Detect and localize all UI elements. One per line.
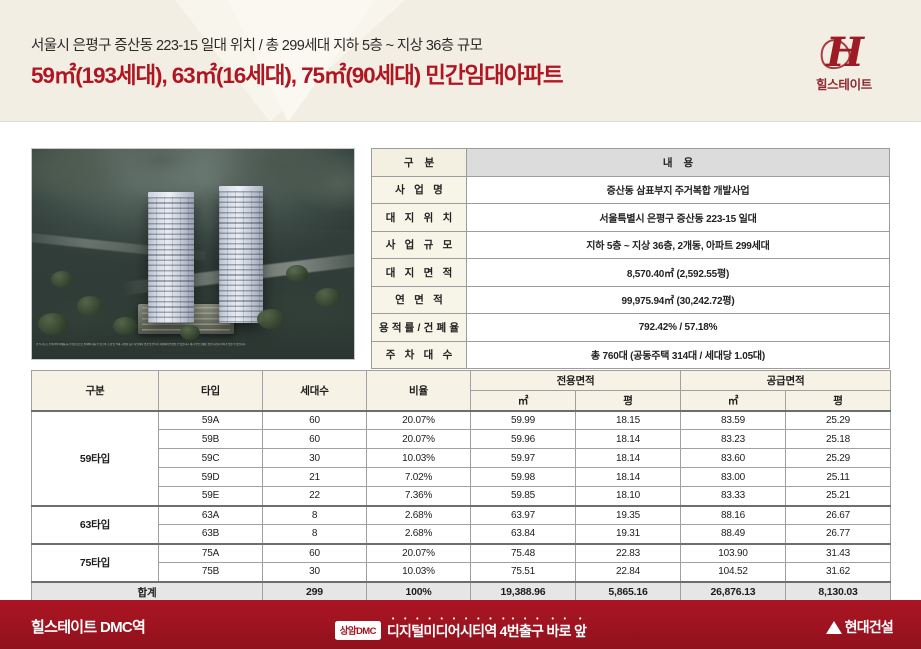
table-row: 75타입 75A 60 20.07% 75.48 22.83 103.90 31… bbox=[32, 544, 891, 563]
spec-value: 증산동 삼표부지 주거복합 개발사업 bbox=[467, 176, 890, 204]
unit-cell-type: 59E bbox=[159, 487, 263, 506]
unit-cell-households: 60 bbox=[263, 411, 367, 430]
unit-cell-sup-sqm: 104.52 bbox=[681, 563, 786, 582]
unit-cell-sup-pyeong: 26.67 bbox=[786, 506, 891, 525]
spec-label: 대 지 면 적 bbox=[372, 259, 467, 287]
project-spec-table: 구 분 내 용 사 업 명 증산동 삼표부지 주거복합 개발사업 대 지 위 치… bbox=[371, 148, 890, 369]
rendering-tree bbox=[315, 288, 341, 307]
spec-row-parking: 주 차 대 수 총 760대 (공동주택 314대 / 세대당 1.05대) bbox=[372, 341, 890, 369]
unit-header-supply-pyeong: 평 bbox=[786, 391, 891, 411]
unit-cell-sup-sqm: 83.23 bbox=[681, 430, 786, 449]
unit-group-label-59: 59타입 bbox=[32, 411, 159, 506]
table-row: 59D 21 7.02% 59.98 18.14 83.00 25.11 bbox=[32, 468, 891, 487]
unit-cell-ratio: 10.03% bbox=[367, 449, 471, 468]
spec-value: 792.42% / 57.18% bbox=[467, 314, 890, 342]
spec-row-business-name: 사 업 명 증산동 삼표부지 주거복합 개발사업 bbox=[372, 176, 890, 204]
hyundai-ec-logo: 현대건설 bbox=[826, 617, 893, 637]
unit-cell-type: 59A bbox=[159, 411, 263, 430]
footer-dmc-badge: 상암DMC bbox=[335, 621, 381, 640]
unit-cell-excl-sqm: 75.48 bbox=[471, 544, 576, 563]
spec-label: 용적률/건폐율 bbox=[372, 314, 467, 342]
spec-label: 주 차 대 수 bbox=[372, 341, 467, 369]
spec-row-floor-area-ratio: 용적률/건폐율 792.42% / 57.18% bbox=[372, 314, 890, 342]
unit-cell-sup-sqm: 83.00 bbox=[681, 468, 786, 487]
unit-cell-excl-sqm: 59.98 bbox=[471, 468, 576, 487]
page-title: 59㎡(193세대), 63㎡(16세대), 75㎡(90세대) 민간임대아파트 bbox=[31, 62, 563, 89]
unit-cell-ratio: 2.68% bbox=[367, 506, 471, 525]
spec-row-business-scale: 사 업 규 모 지하 5층 ~ 지상 36층, 2개동, 아파트 299세대 bbox=[372, 231, 890, 259]
spec-row-site-area: 대 지 면 적 8,570.40㎡ (2,592.55평) bbox=[372, 259, 890, 287]
unit-cell-ratio: 7.36% bbox=[367, 487, 471, 506]
unit-cell-sup-sqm: 83.59 bbox=[681, 411, 786, 430]
spec-label: 연 면 적 bbox=[372, 286, 467, 314]
table-row: 59B 60 20.07% 59.96 18.14 83.23 25.18 bbox=[32, 430, 891, 449]
unit-cell-excl-sqm: 63.84 bbox=[471, 525, 576, 544]
unit-cell-households: 8 bbox=[263, 525, 367, 544]
rendering-tree bbox=[51, 271, 73, 288]
rendering-disclaimer: 본 투시도는 소비자의 이해를 돕기 위한 것으로 실제와 다를 수 있으며, … bbox=[36, 343, 350, 356]
unit-cell-ratio: 20.07% bbox=[367, 411, 471, 430]
unit-cell-type: 59B bbox=[159, 430, 263, 449]
page-content: 본 투시도는 소비자의 이해를 돕기 위한 것으로 실제와 다를 수 있으며, … bbox=[0, 122, 921, 600]
unit-cell-sup-sqm: 103.90 bbox=[681, 544, 786, 563]
rendering-tree bbox=[113, 317, 137, 335]
unit-cell-households: 30 bbox=[263, 563, 367, 582]
spec-label: 사 업 규 모 bbox=[372, 231, 467, 259]
rendering-tree bbox=[257, 309, 285, 329]
unit-header-supply-area: 공급면적 bbox=[681, 371, 891, 391]
rendering-tower-b bbox=[219, 191, 263, 323]
spec-label: 대 지 위 치 bbox=[372, 204, 467, 232]
rendering-tree bbox=[38, 313, 68, 335]
unit-cell-sup-pyeong: 25.29 bbox=[786, 449, 891, 468]
rendering-tree bbox=[77, 296, 103, 316]
unit-header-supply-sqm: ㎡ bbox=[681, 391, 786, 411]
spec-row-site-location: 대 지 위 치 서울특별시 은평구 증산동 223-15 일대 bbox=[372, 204, 890, 232]
unit-cell-sup-pyeong: 25.29 bbox=[786, 411, 891, 430]
project-rendering-image: 본 투시도는 소비자의 이해를 돕기 위한 것으로 실제와 다를 수 있으며, … bbox=[31, 148, 355, 360]
footer-location-block: 상암DMC디지털미디어시티역 4번출구 바로 앞 bbox=[0, 616, 921, 641]
unit-cell-ratio: 20.07% bbox=[367, 544, 471, 563]
header-subtitle: 서울시 은평구 증산동 223-15 일대 위치 / 총 299세대 지하 5층… bbox=[31, 38, 563, 55]
unit-header-gubun: 구분 bbox=[32, 371, 159, 411]
table-row: 63타입 63A 8 2.68% 63.97 19.35 88.16 26.67 bbox=[32, 506, 891, 525]
rendering-tree bbox=[286, 265, 308, 282]
unit-cell-excl-pyeong: 18.15 bbox=[576, 411, 681, 430]
table-row: 59타입 59A 60 20.07% 59.99 18.15 83.59 25.… bbox=[32, 411, 891, 430]
unit-cell-sup-pyeong: 25.21 bbox=[786, 487, 891, 506]
spec-value: 8,570.40㎡ (2,592.55평) bbox=[467, 259, 890, 287]
unit-cell-excl-pyeong: 19.35 bbox=[576, 506, 681, 525]
unit-cell-type: 75B bbox=[159, 563, 263, 582]
table-row: 75B 30 10.03% 75.51 22.84 104.52 31.62 bbox=[32, 563, 891, 582]
unit-cell-sup-sqm: 88.16 bbox=[681, 506, 786, 525]
spec-label: 사 업 명 bbox=[372, 176, 467, 204]
unit-type-table: 구분 타입 세대수 비율 전용면적 공급면적 ㎡ 평 ㎡ 평 59타입 bbox=[31, 370, 891, 603]
unit-cell-ratio: 7.02% bbox=[367, 468, 471, 487]
hillstate-logo: H 힐스테이트 bbox=[789, 33, 899, 93]
unit-cell-households: 21 bbox=[263, 468, 367, 487]
unit-cell-excl-pyeong: 22.83 bbox=[576, 544, 681, 563]
unit-cell-excl-sqm: 75.51 bbox=[471, 563, 576, 582]
unit-cell-ratio: 20.07% bbox=[367, 430, 471, 449]
unit-cell-sup-pyeong: 26.77 bbox=[786, 525, 891, 544]
unit-cell-type: 75A bbox=[159, 544, 263, 563]
unit-cell-excl-sqm: 59.85 bbox=[471, 487, 576, 506]
unit-cell-excl-pyeong: 18.14 bbox=[576, 468, 681, 487]
unit-cell-households: 60 bbox=[263, 430, 367, 449]
unit-header-households: 세대수 bbox=[263, 371, 367, 411]
page-header: 서울시 은평구 증산동 223-15 일대 위치 / 총 299세대 지하 5층… bbox=[0, 0, 921, 122]
unit-header-ratio: 비율 bbox=[367, 371, 471, 411]
unit-cell-sup-sqm: 83.33 bbox=[681, 487, 786, 506]
footer-location-text: 디지털미디어시티역 4번출구 바로 앞 bbox=[387, 616, 586, 641]
rendering-tower-a bbox=[148, 197, 194, 323]
spec-value: 지하 5층 ~ 지상 36층, 2개동, 아파트 299세대 bbox=[467, 231, 890, 259]
spec-header-gubun: 구 분 bbox=[372, 149, 467, 177]
unit-cell-sup-pyeong: 25.18 bbox=[786, 430, 891, 449]
spec-value: 서울특별시 은평구 증산동 223-15 일대 bbox=[467, 204, 890, 232]
unit-cell-excl-pyeong: 22.84 bbox=[576, 563, 681, 582]
unit-cell-excl-sqm: 59.96 bbox=[471, 430, 576, 449]
unit-cell-households: 60 bbox=[263, 544, 367, 563]
unit-cell-type: 63A bbox=[159, 506, 263, 525]
unit-cell-sup-pyeong: 25.11 bbox=[786, 468, 891, 487]
unit-cell-households: 8 bbox=[263, 506, 367, 525]
unit-cell-excl-sqm: 59.99 bbox=[471, 411, 576, 430]
unit-cell-sup-sqm: 83.60 bbox=[681, 449, 786, 468]
unit-cell-type: 59D bbox=[159, 468, 263, 487]
unit-cell-sup-pyeong: 31.43 bbox=[786, 544, 891, 563]
hillstate-h-mark-icon: H bbox=[826, 33, 862, 73]
unit-cell-type: 59C bbox=[159, 449, 263, 468]
unit-group-label-75: 75타입 bbox=[32, 544, 159, 582]
unit-cell-ratio: 2.68% bbox=[367, 525, 471, 544]
unit-cell-sup-sqm: 88.49 bbox=[681, 525, 786, 544]
table-row: 63B 8 2.68% 63.84 19.31 88.49 26.77 bbox=[32, 525, 891, 544]
spec-row-total-floor-area: 연 면 적 99,975.94㎡ (30,242.72평) bbox=[372, 286, 890, 314]
unit-cell-excl-pyeong: 19.31 bbox=[576, 525, 681, 544]
unit-header-exclusive-sqm: ㎡ bbox=[471, 391, 576, 411]
unit-group-label-63: 63타입 bbox=[32, 506, 159, 544]
unit-cell-excl-pyeong: 18.10 bbox=[576, 487, 681, 506]
hyundai-ec-name: 현대건설 bbox=[845, 617, 893, 637]
table-row: 59E 22 7.36% 59.85 18.10 83.33 25.21 bbox=[32, 487, 891, 506]
unit-cell-excl-pyeong: 18.14 bbox=[576, 449, 681, 468]
unit-header-type: 타입 bbox=[159, 371, 263, 411]
unit-cell-excl-sqm: 63.97 bbox=[471, 506, 576, 525]
spec-value: 99,975.94㎡ (30,242.72평) bbox=[467, 286, 890, 314]
unit-cell-ratio: 10.03% bbox=[367, 563, 471, 582]
unit-cell-sup-pyeong: 31.62 bbox=[786, 563, 891, 582]
unit-table-header-row-1: 구분 타입 세대수 비율 전용면적 공급면적 bbox=[32, 371, 891, 391]
unit-header-exclusive-pyeong: 평 bbox=[576, 391, 681, 411]
brochure-page: 서울시 은평구 증산동 223-15 일대 위치 / 총 299세대 지하 5층… bbox=[0, 0, 921, 649]
unit-cell-type: 63B bbox=[159, 525, 263, 544]
hillstate-brand-name: 힐스테이트 bbox=[789, 74, 899, 93]
unit-cell-households: 30 bbox=[263, 449, 367, 468]
table-row: 59C 30 10.03% 59.97 18.14 83.60 25.29 bbox=[32, 449, 891, 468]
page-footer: 힐스테이트 DMC역 상암DMC디지털미디어시티역 4번출구 바로 앞 현대건설 bbox=[0, 600, 921, 649]
unit-header-exclusive-area: 전용면적 bbox=[471, 371, 681, 391]
unit-cell-households: 22 bbox=[263, 487, 367, 506]
hyundai-triangle-icon bbox=[826, 621, 842, 634]
header-text-block: 서울시 은평구 증산동 223-15 일대 위치 / 총 299세대 지하 5층… bbox=[31, 38, 563, 89]
unit-cell-excl-pyeong: 18.14 bbox=[576, 430, 681, 449]
spec-header-naeyong: 내 용 bbox=[467, 149, 890, 177]
spec-value: 총 760대 (공동주택 314대 / 세대당 1.05대) bbox=[467, 341, 890, 369]
unit-cell-excl-sqm: 59.97 bbox=[471, 449, 576, 468]
spec-table-header-row: 구 분 내 용 bbox=[372, 149, 890, 177]
